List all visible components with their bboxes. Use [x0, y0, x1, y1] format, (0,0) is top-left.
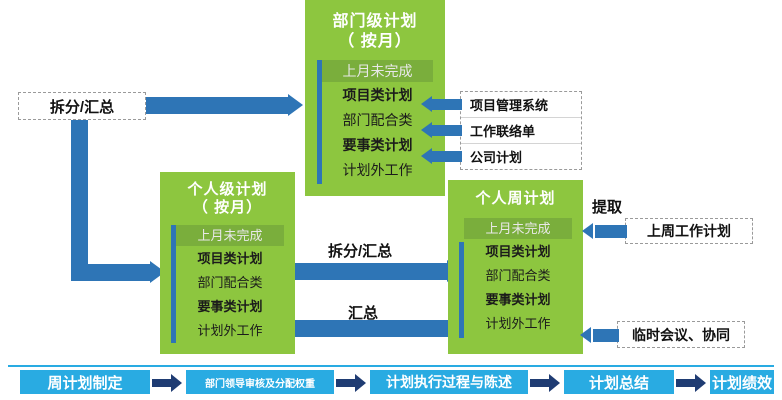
band-top-rule [8, 365, 774, 367]
arrow-lastweek-head [582, 223, 593, 239]
personal-monthly-row-3: 要事类计划 [176, 296, 284, 318]
arrow-split-to-dept-shaft [140, 97, 290, 114]
dept-plan-row-0: 上月未完成 [322, 60, 433, 82]
personal-monthly-plan-title: 个人级计划 （ 按月） [160, 172, 295, 218]
band-step-1[interactable]: 部门领导审核及分配权重 [186, 370, 334, 394]
summarize-label: 汇总 [348, 302, 378, 323]
personal-monthly-plan-rows: 上月未完成 项目类计划 部门配合类 要事类计划 计划外工作 [160, 225, 295, 342]
band-step-0[interactable]: 周计划制定 [20, 370, 150, 394]
personal-monthly-row-1: 项目类计划 [176, 248, 284, 270]
dept-plan-rows: 上月未完成 项目类计划 部门配合类 要事类计划 计划外工作 [305, 60, 445, 182]
personal-weekly-row-3: 要事类计划 [464, 289, 572, 311]
personal-weekly-row-4: 计划外工作 [464, 313, 572, 335]
personal-monthly-plan-card: 个人级计划 （ 按月） 上月未完成 项目类计划 部门配合类 要事类计划 计划外工… [160, 172, 295, 354]
arrow-monthly-to-weekly-shaft [285, 263, 450, 280]
dept-plan-row-2: 部门配合类 [322, 109, 433, 132]
dept-input-0[interactable]: 项目管理系统 [461, 92, 581, 118]
dept-plan-card: 部门级计划 （ 按月） 上月未完成 项目类计划 部门配合类 要事类计划 计划外工… [305, 0, 445, 196]
band-step-3[interactable]: 计划总结 [564, 370, 674, 394]
arrow-input1-shaft [432, 125, 462, 136]
personal-weekly-row-1: 项目类计划 [464, 241, 572, 263]
personal-weekly-row-2: 部门配合类 [464, 265, 572, 287]
arrow-lastweek-shaft [595, 225, 627, 238]
personal-weekly-plan-spine [459, 242, 464, 338]
dept-plan-title: 部门级计划 （ 按月） [305, 0, 445, 51]
arrow-adhoc-head [580, 327, 591, 343]
extract-label: 提取 [592, 196, 622, 217]
arrow-split-to-dept-head [288, 94, 303, 116]
personal-weekly-plan-rows: 上月未完成 项目类计划 部门配合类 要事类计划 计划外工作 [448, 218, 583, 335]
arrow-split-branch-horizontal [71, 264, 153, 281]
dept-inputs-group: 项目管理系统 工作联络单 公司计划 [460, 91, 582, 170]
last-week-plan-box[interactable]: 上周工作计划 [625, 218, 753, 244]
dept-plan-row-1: 项目类计划 [322, 84, 433, 107]
dept-input-1[interactable]: 工作联络单 [461, 118, 581, 144]
personal-weekly-row-0: 上月未完成 [464, 218, 572, 239]
personal-monthly-plan-spine [171, 225, 176, 343]
split-summarize-box-left[interactable]: 拆分/汇总 [18, 92, 146, 120]
dept-input-2[interactable]: 公司计划 [461, 144, 581, 169]
adhoc-meeting-box[interactable]: 临时会议、协同 [617, 321, 745, 348]
personal-weekly-plan-title: 个人周计划 [448, 180, 583, 208]
arrow-input0-shaft [432, 99, 462, 110]
dept-plan-spine [317, 60, 322, 184]
arrow-input2-shaft [432, 151, 462, 162]
dept-plan-row-4: 计划外工作 [322, 159, 433, 182]
arrow-adhoc-shaft [593, 329, 619, 342]
personal-weekly-plan-card: 个人周计划 上月未完成 项目类计划 部门配合类 要事类计划 计划外工作 [448, 180, 583, 354]
band-arrow-0 [152, 374, 184, 392]
band-arrow-3 [676, 374, 708, 392]
personal-monthly-row-4: 计划外工作 [176, 320, 284, 342]
dept-plan-row-3: 要事类计划 [322, 134, 433, 157]
band-arrow-1 [336, 374, 368, 392]
diagram-canvas: 部门级计划 （ 按月） 上月未完成 项目类计划 部门配合类 要事类计划 计划外工… [0, 0, 782, 400]
band-step-4[interactable]: 计划绩效 [710, 370, 774, 394]
personal-monthly-row-0: 上月未完成 [176, 225, 284, 246]
split-summarize-label-mid: 拆分/汇总 [328, 240, 392, 261]
band-step-2[interactable]: 计划执行过程与陈述 [370, 370, 528, 394]
band-arrow-2 [530, 374, 562, 392]
personal-monthly-row-2: 部门配合类 [176, 272, 284, 294]
arrow-split-branch-vertical [71, 105, 88, 273]
